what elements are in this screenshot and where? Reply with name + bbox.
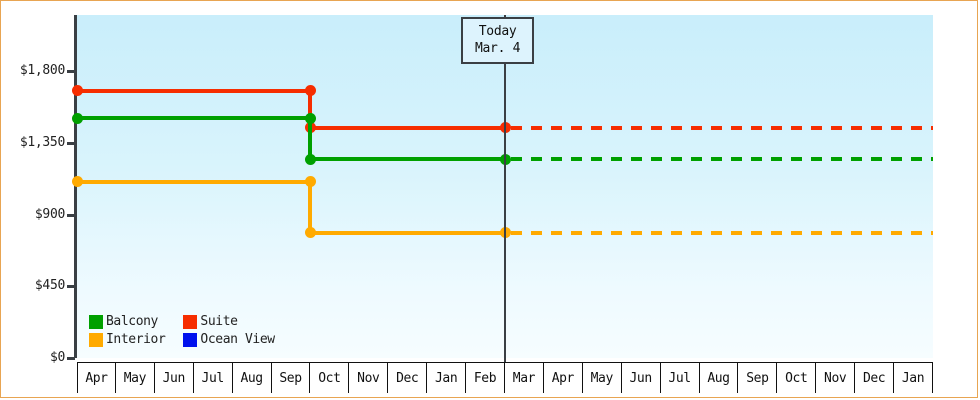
series-line-interior xyxy=(310,231,505,235)
legend-label: Balcony xyxy=(106,314,158,329)
y-tick-label-text: $0 xyxy=(50,350,65,365)
y-tick-label-text: $900 xyxy=(35,207,65,222)
today-vertical-line xyxy=(504,15,506,362)
series-forecast-interior xyxy=(511,231,933,235)
y-tick xyxy=(67,70,75,73)
y-tick-label: $1,350 xyxy=(1,135,65,149)
x-axis-month-cell[interactable]: Aug xyxy=(233,363,272,393)
legend-label: Suite xyxy=(200,314,237,329)
series-forecast-balcony xyxy=(511,157,933,161)
series-line-interior xyxy=(77,180,310,184)
y-tick xyxy=(67,285,75,288)
x-axis-month-cell[interactable]: Nov xyxy=(349,363,388,393)
series-point-suite xyxy=(72,85,83,96)
y-tick xyxy=(67,142,75,145)
series-line-balcony xyxy=(77,116,310,120)
y-tick-label: $900 xyxy=(1,207,65,221)
legend-item-interior[interactable]: Interior xyxy=(89,332,165,347)
series-line-suite xyxy=(77,89,310,93)
legend-swatch-icon xyxy=(89,333,103,347)
y-tick-label: $0 xyxy=(1,350,65,364)
x-axis-month-cell[interactable]: May xyxy=(583,363,622,393)
x-axis-month-cell[interactable]: Jun xyxy=(155,363,194,393)
x-axis-month-cell[interactable]: Oct xyxy=(777,363,816,393)
x-axis-month-cell[interactable]: Dec xyxy=(388,363,427,393)
x-axis-month-cell[interactable]: Apr xyxy=(544,363,583,393)
legend-item-suite[interactable]: Suite xyxy=(183,314,274,329)
y-tick-label-text: $450 xyxy=(35,278,65,293)
legend-label: Interior xyxy=(106,332,165,347)
series-line-balcony xyxy=(310,157,505,161)
series-forecast-suite xyxy=(511,126,933,130)
x-axis-month-cell[interactable]: Feb xyxy=(466,363,505,393)
legend-label: Ocean View xyxy=(200,332,274,347)
y-tick xyxy=(67,357,75,360)
x-axis-month-cell[interactable]: Oct xyxy=(310,363,349,393)
x-axis-months: AprMayJunJulAugSepOctNovDecJanFebMarAprM… xyxy=(77,362,933,392)
x-axis-month-cell[interactable]: Jan xyxy=(427,363,466,393)
chart-legend: BalconySuiteInteriorOcean View xyxy=(89,314,275,347)
x-axis-month-cell[interactable]: Apr xyxy=(77,363,116,393)
series-point-interior xyxy=(72,176,83,187)
y-tick-label: $450 xyxy=(1,278,65,292)
series-point-balcony xyxy=(305,154,316,165)
x-axis-month-cell[interactable]: Jul xyxy=(661,363,700,393)
x-axis-month-cell[interactable]: Sep xyxy=(738,363,777,393)
y-tick-label-text: $1,350 xyxy=(20,135,65,150)
x-axis-month-cell[interactable]: Mar xyxy=(505,363,544,393)
y-tick xyxy=(67,214,75,217)
x-axis-month-cell[interactable]: Jun xyxy=(622,363,661,393)
legend-swatch-icon xyxy=(183,333,197,347)
x-axis-month-cell[interactable]: Dec xyxy=(855,363,894,393)
today-marker-label: Today Mar. 4 xyxy=(461,17,534,64)
x-axis-month-cell[interactable]: Sep xyxy=(272,363,311,393)
legend-swatch-icon xyxy=(89,315,103,329)
legend-item-balcony[interactable]: Balcony xyxy=(89,314,165,329)
x-axis-month-cell[interactable]: Jan xyxy=(894,363,933,393)
x-axis-month-cell[interactable]: Jul xyxy=(194,363,233,393)
today-label-line1: Today xyxy=(475,23,520,40)
series-point-balcony xyxy=(72,113,83,124)
legend-item-ocean-view[interactable]: Ocean View xyxy=(183,332,274,347)
series-step-interior xyxy=(308,182,312,233)
y-tick-label: $1,800 xyxy=(1,63,65,77)
y-tick-label-text: $1,800 xyxy=(20,63,65,78)
legend-swatch-icon xyxy=(183,315,197,329)
x-axis-month-cell[interactable]: May xyxy=(116,363,155,393)
series-point-balcony xyxy=(305,113,316,124)
price-history-chart: $0$450$900$1,350$1,800 Today Mar. 4 Balc… xyxy=(0,0,978,398)
today-label-line2: Mar. 4 xyxy=(475,40,520,57)
series-line-suite xyxy=(310,126,505,130)
x-axis-month-cell[interactable]: Aug xyxy=(700,363,739,393)
x-axis-month-cell[interactable]: Nov xyxy=(816,363,855,393)
